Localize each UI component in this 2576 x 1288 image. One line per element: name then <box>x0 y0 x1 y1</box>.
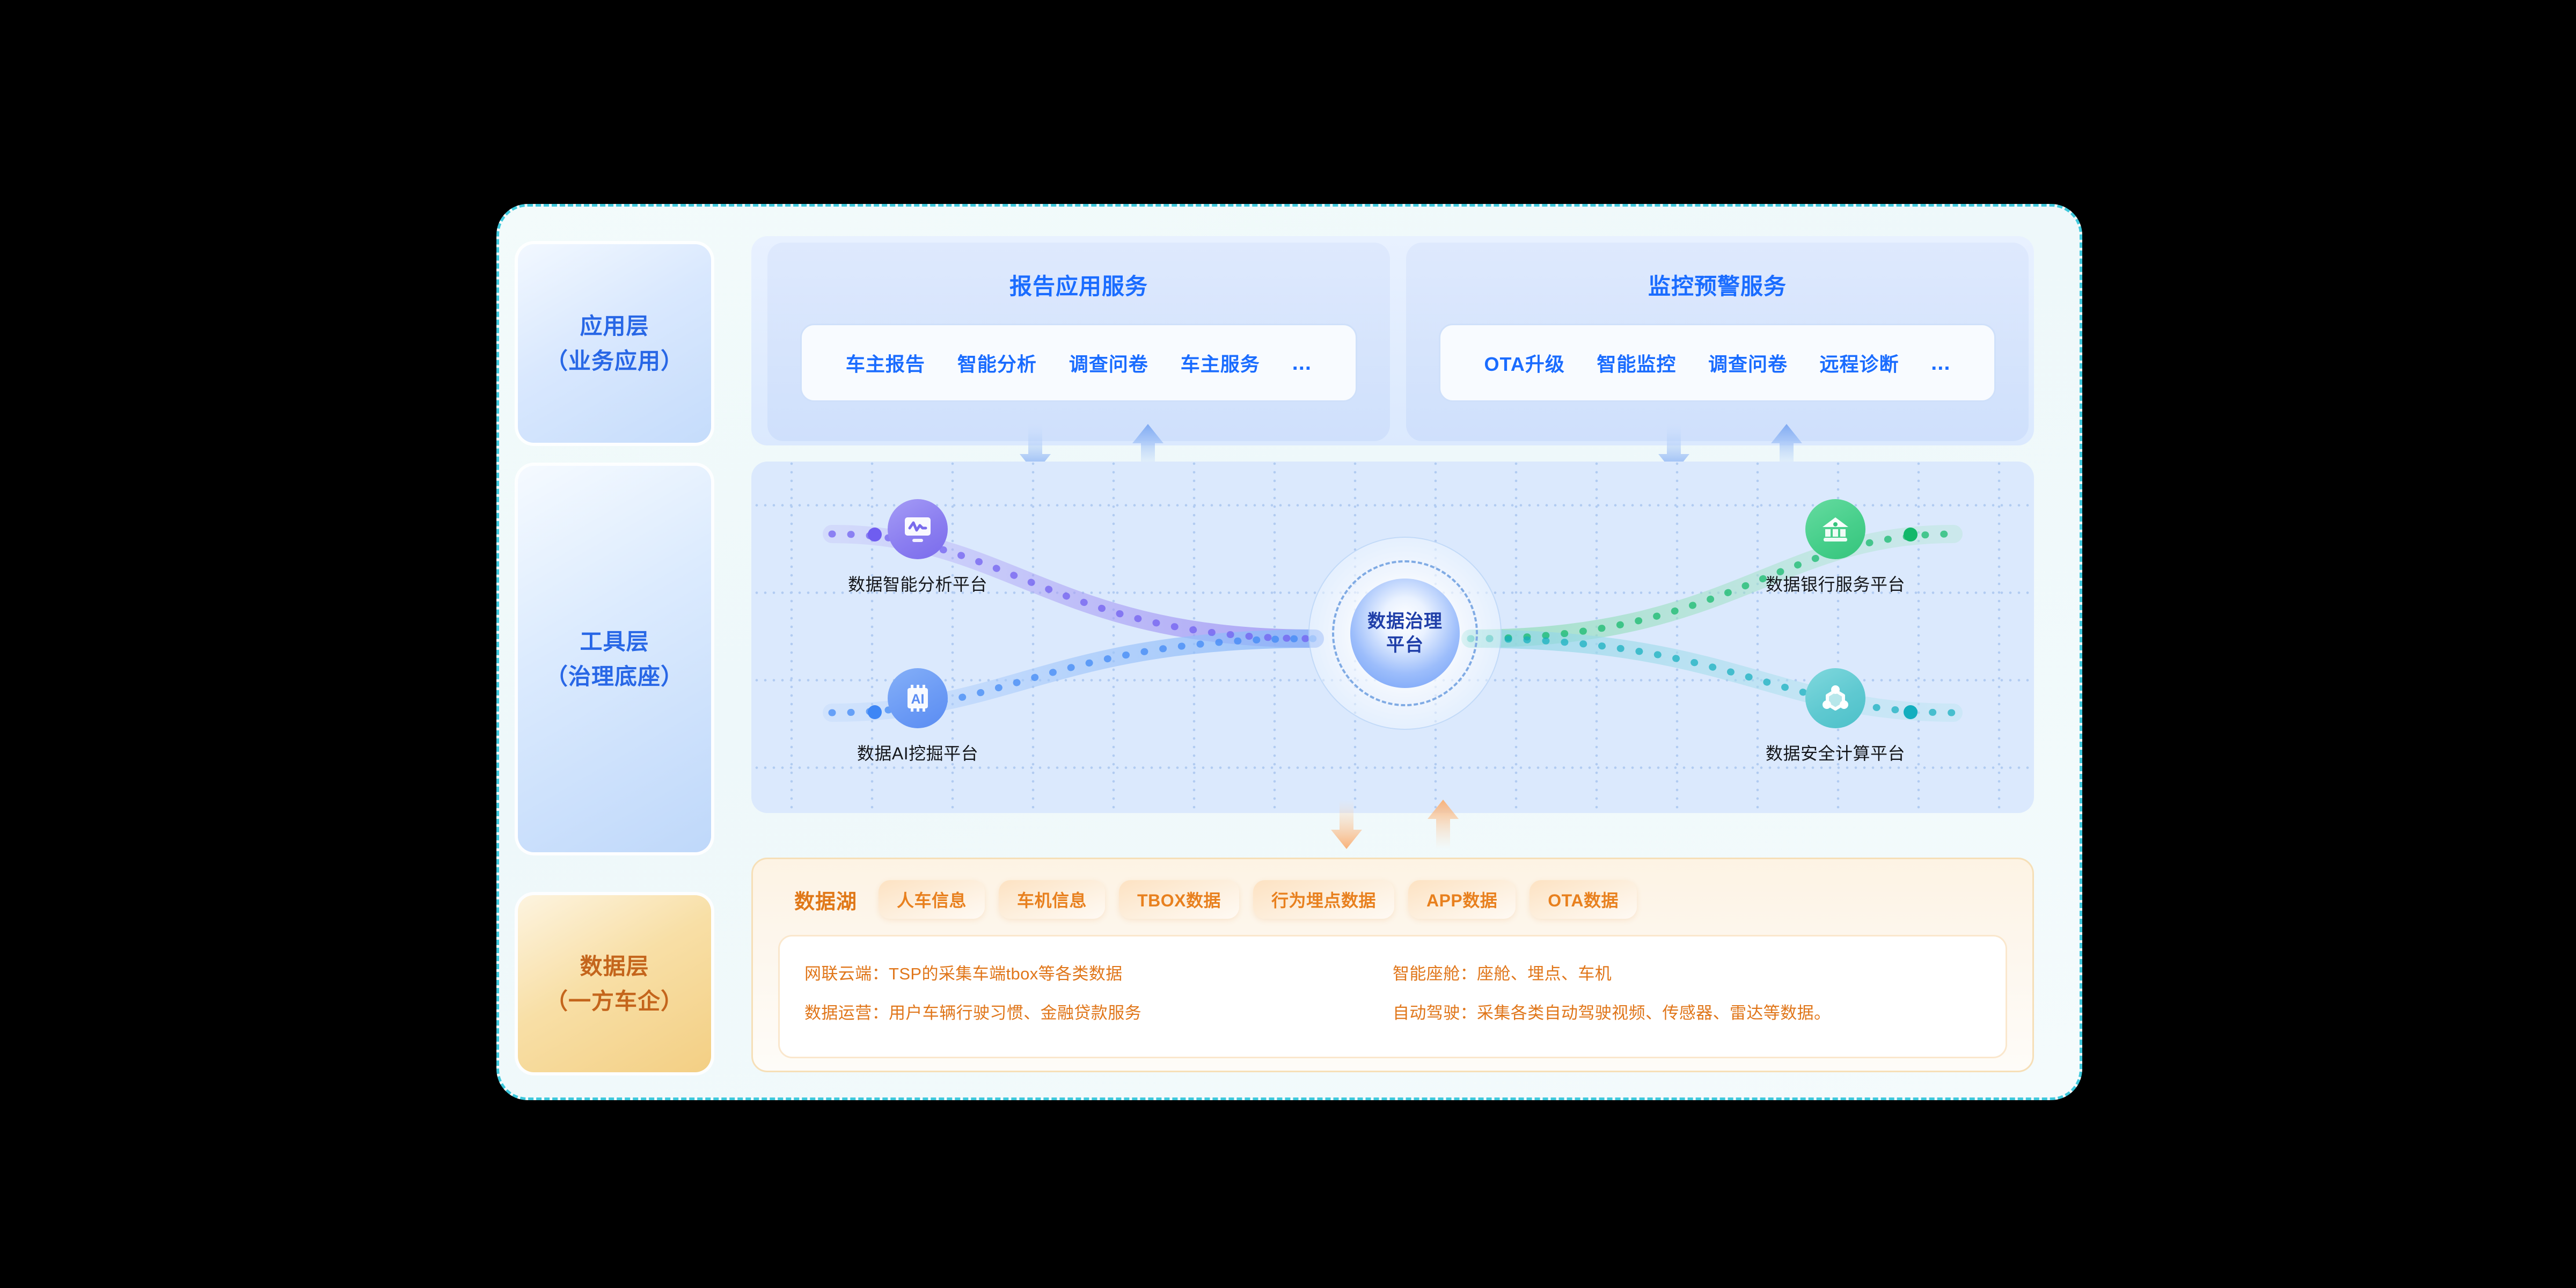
hub-label-line1: 数据治理 <box>1367 610 1443 633</box>
layer-application-name: 应用层 <box>580 309 649 343</box>
node-security-label: 数据安全计算平台 <box>1766 740 1905 765</box>
service-card-monitoring[interactable]: 监控预警服务 OTA升级 智能监控 调查问卷 远程诊断 ... <box>1406 243 2029 441</box>
description-smart-cockpit: 智能座舱：座舱、埋点、车机 <box>1393 960 1981 984</box>
data-lake-tag-app[interactable]: APP数据 <box>1408 880 1516 919</box>
service-card-report[interactable]: 报告应用服务 车主报告 智能分析 调查问卷 车主服务 ... <box>767 243 1390 441</box>
service-item-smart-analysis[interactable]: 智能分析 <box>957 349 1037 377</box>
service-item-more-report[interactable]: ... <box>1292 351 1312 375</box>
data-lake-tag-tbox[interactable]: TBOX数据 <box>1119 880 1239 919</box>
service-card-monitoring-title: 监控预警服务 <box>1648 268 1787 301</box>
layer-data-sub: （一方车企） <box>545 984 684 1019</box>
service-card-monitoring-items: OTA升级 智能监控 调查问卷 远程诊断 ... <box>1439 324 1996 402</box>
service-item-questionnaire[interactable]: 调查问卷 <box>1069 349 1148 377</box>
layer-tool-name: 工具层 <box>580 624 649 659</box>
description-column-right: 智能座舱：座舱、埋点、车机 自动驾驶：采集各类自动驾驶视频、传感器、雷达等数据。 <box>1393 960 1981 1033</box>
data-governance-hub[interactable]: 数据治理 平台 <box>1308 537 1502 730</box>
hub-label-line2: 平台 <box>1386 633 1424 657</box>
description-data-operation: 数据运营：用户车辆行驶习惯、金融贷款服务 <box>804 999 1393 1023</box>
ai-chip-icon: AI <box>888 668 948 728</box>
service-item-owner-report[interactable]: 车主报告 <box>846 349 925 377</box>
svg-text:AI: AI <box>911 692 925 707</box>
layer-chip-data[interactable]: 数据层 （一方车企） <box>518 895 711 1072</box>
description-autonomous-driving: 自动驾驶：采集各类自动驾驶视频、传感器、雷达等数据。 <box>1393 999 1981 1023</box>
node-ai-platform[interactable]: AI 数据AI挖掘平台 <box>837 668 998 765</box>
description-column-left: 网联云端：TSP的采集车端tbox等各类数据 数据运营：用户车辆行驶习惯、金融贷… <box>804 960 1393 1033</box>
monitor-chart-icon <box>888 499 948 559</box>
data-lake-tag-person-vehicle[interactable]: 人车信息 <box>879 880 985 919</box>
service-item-questionnaire-2[interactable]: 调查问卷 <box>1708 349 1788 377</box>
service-item-smart-monitor[interactable]: 智能监控 <box>1597 349 1676 377</box>
arrow-up-from-data-lake <box>1428 800 1459 849</box>
layer-tool-sub: （治理底座） <box>545 659 684 694</box>
node-analysis-label: 数据智能分析平台 <box>848 571 987 596</box>
data-lake-tag-ota[interactable]: OTA数据 <box>1529 880 1637 919</box>
layer-application-sub: （业务应用） <box>545 343 684 378</box>
service-item-ota-upgrade[interactable]: OTA升级 <box>1484 349 1565 377</box>
bank-building-icon <box>1805 499 1865 559</box>
node-bank-platform[interactable]: 数据银行服务平台 <box>1755 499 1916 596</box>
layer-chip-application[interactable]: 应用层 （业务应用） <box>518 244 711 443</box>
diagram-canvas: 应用层 （业务应用） 工具层 （治理底座） 数据层 （一方车企） 报告应用服务 … <box>0 0 2576 1288</box>
data-lake-tag-behavior-tracking[interactable]: 行为埋点数据 <box>1253 880 1394 919</box>
node-security-platform[interactable]: 数据安全计算平台 <box>1755 668 1916 765</box>
description-connected-cloud: 网联云端：TSP的采集车端tbox等各类数据 <box>804 960 1393 984</box>
layer-data-name: 数据层 <box>580 949 649 984</box>
arrow-down-to-data-lake <box>1331 800 1362 849</box>
data-lake-description-box: 网联云端：TSP的采集车端tbox等各类数据 数据运营：用户车辆行驶习惯、金融贷… <box>778 935 2007 1058</box>
node-bank-label: 数据银行服务平台 <box>1766 571 1905 596</box>
service-card-report-title: 报告应用服务 <box>1009 268 1148 301</box>
service-card-report-items: 车主报告 智能分析 调查问卷 车主服务 ... <box>800 324 1357 402</box>
shield-network-icon <box>1805 668 1865 728</box>
layer-chip-tool[interactable]: 工具层 （治理底座） <box>518 466 711 852</box>
data-lake-title: 数据湖 <box>794 885 857 914</box>
node-analysis-platform[interactable]: 数据智能分析平台 <box>837 499 998 596</box>
service-item-remote-diagnosis[interactable]: 远程诊断 <box>1820 349 1899 377</box>
node-ai-label: 数据AI挖掘平台 <box>857 740 978 765</box>
hub-core: 数据治理 平台 <box>1350 579 1460 688</box>
data-lake-tag-vehicle-machine[interactable]: 车机信息 <box>999 880 1105 919</box>
data-lake-tag-row: 数据湖 人车信息 车机信息 TBOX数据 行为埋点数据 APP数据 OTA数据 <box>794 874 1637 925</box>
service-item-more-monitoring[interactable]: ... <box>1931 351 1950 375</box>
service-item-owner-service[interactable]: 车主服务 <box>1181 349 1260 377</box>
